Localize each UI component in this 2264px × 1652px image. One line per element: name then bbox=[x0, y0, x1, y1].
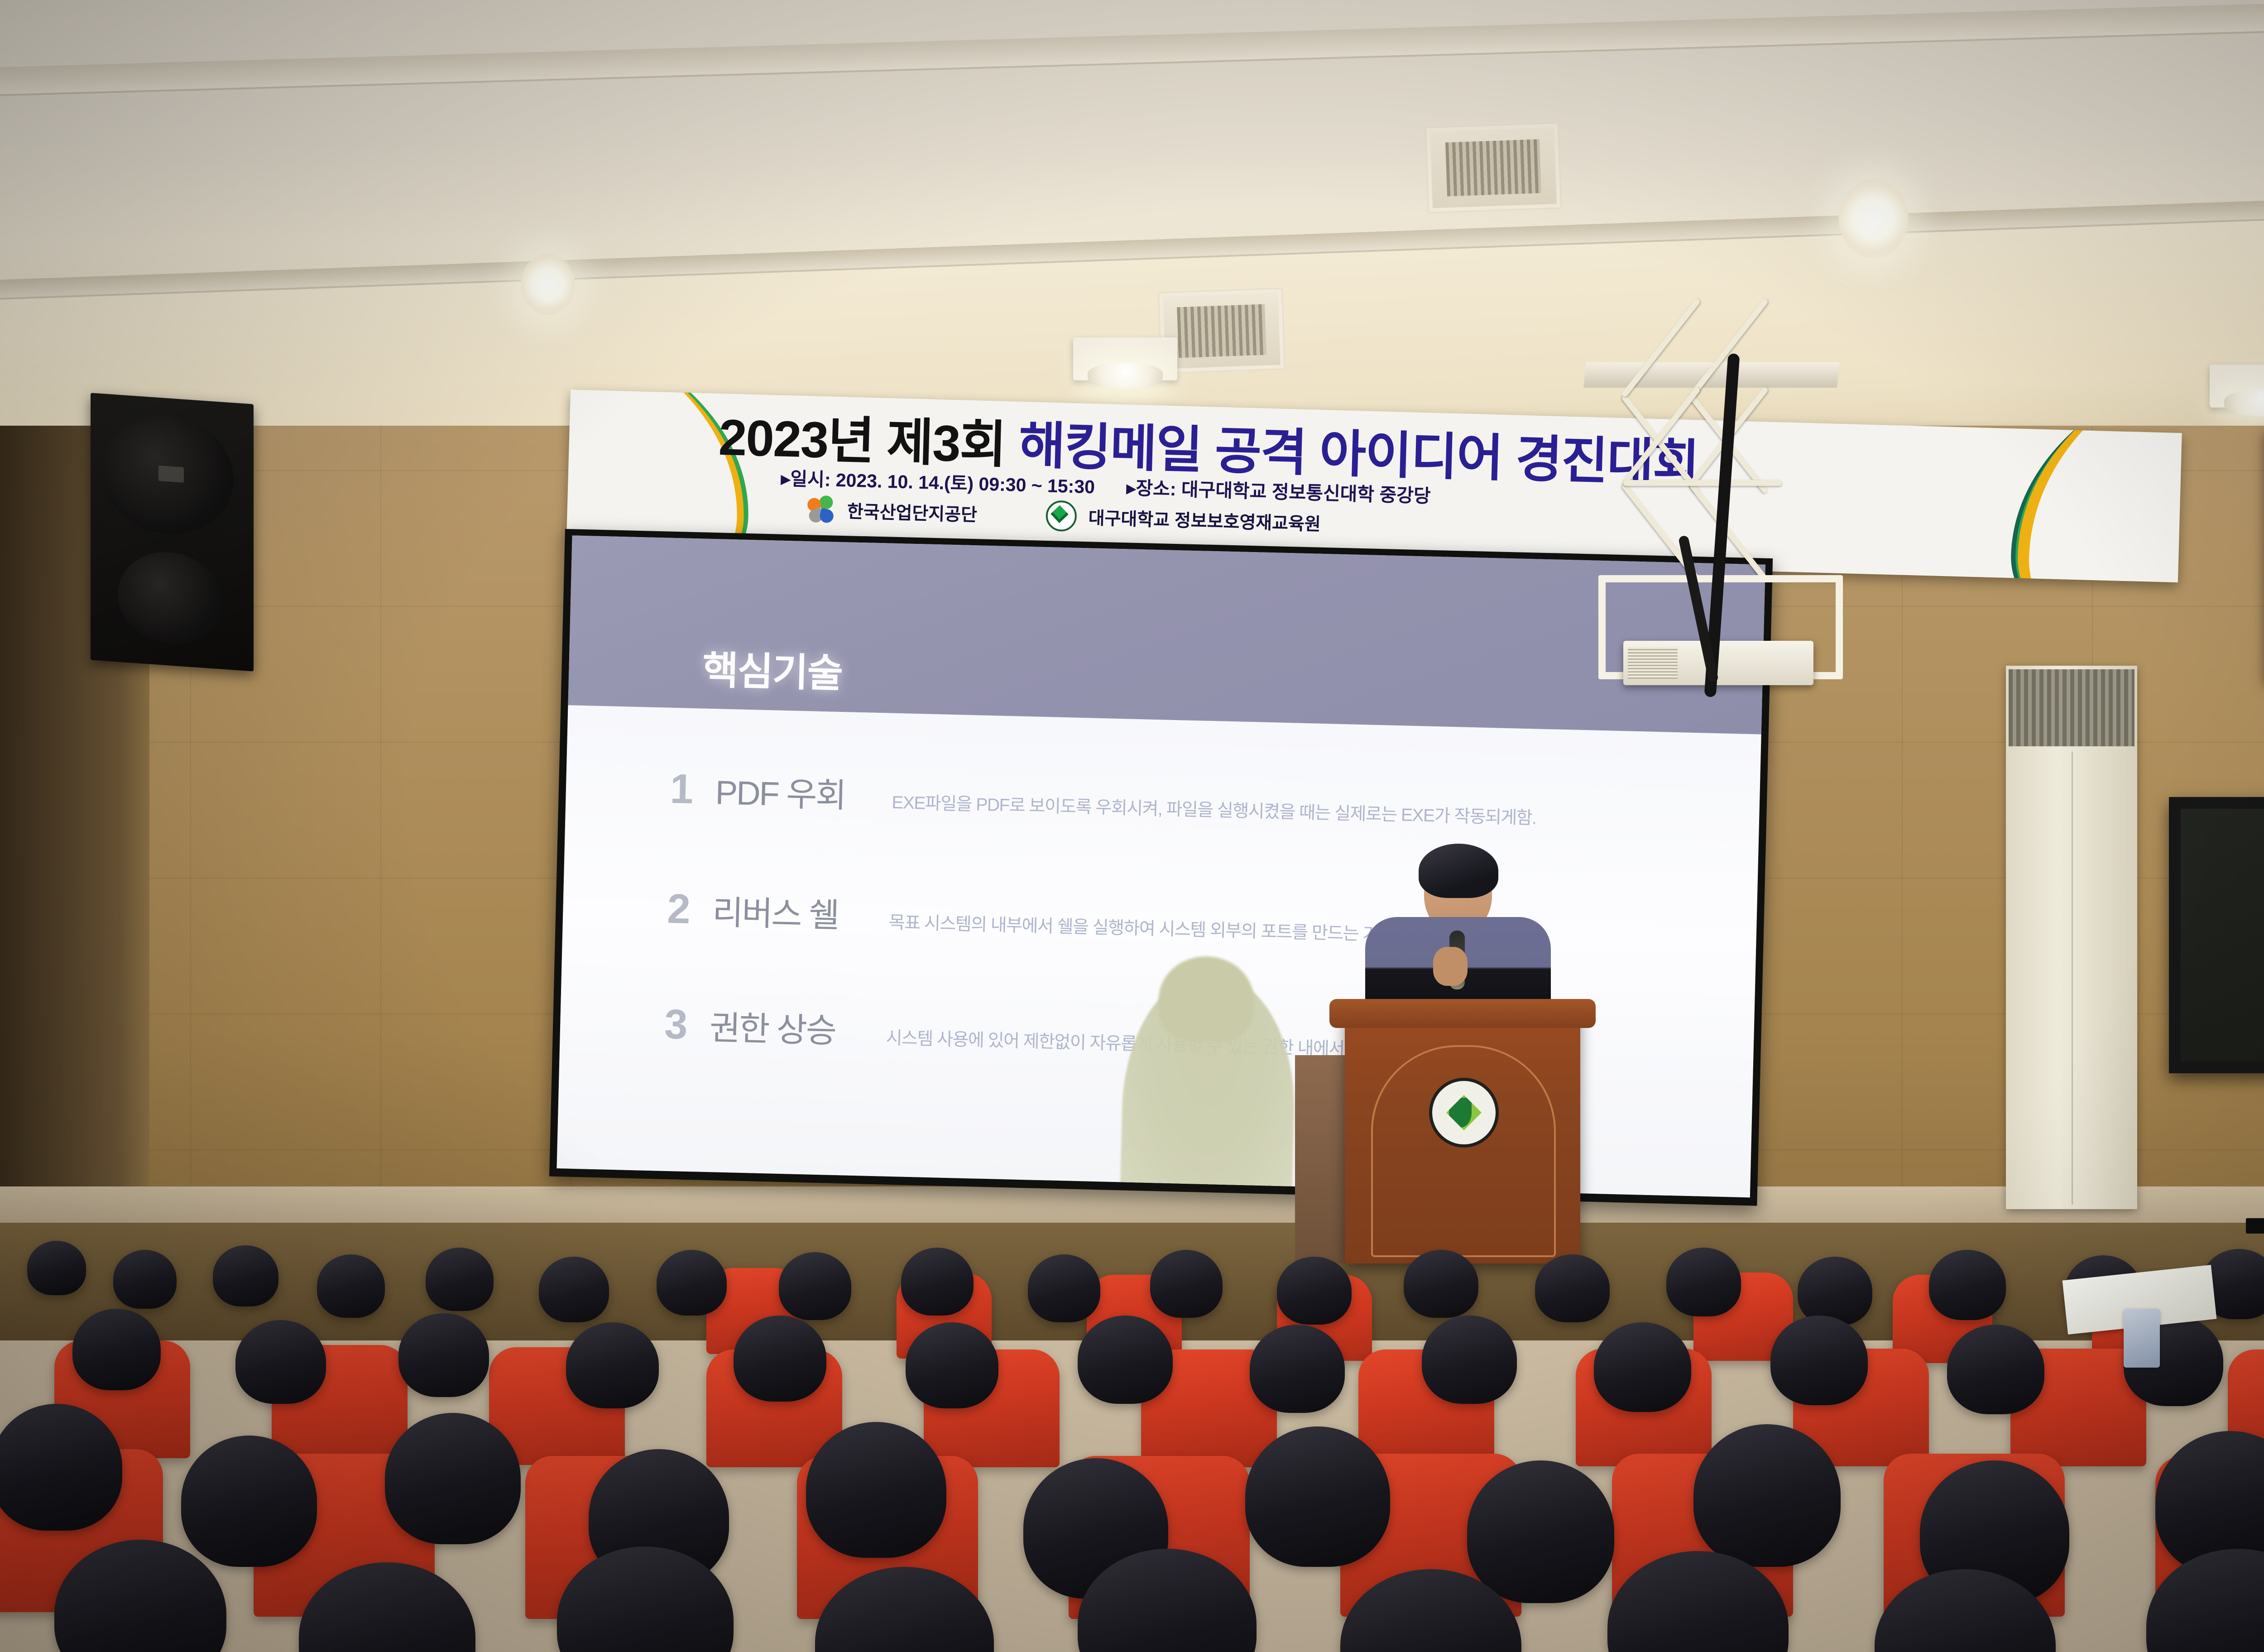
audience-head bbox=[181, 1436, 317, 1567]
audience-head bbox=[1770, 1316, 1868, 1405]
banner-sponsor-1: 한국산업단지공단 bbox=[847, 498, 977, 527]
audience-head bbox=[1422, 1316, 1517, 1404]
slide-item-term: PDF 우회 bbox=[715, 765, 892, 818]
audience-head bbox=[1798, 1257, 1872, 1325]
flat-panel-display bbox=[2169, 797, 2264, 1073]
ceiling-spotlight bbox=[1073, 337, 1177, 380]
banner-date-value: 2023. 10. 14.(토) 09:30 ~ 15:30 bbox=[835, 470, 1095, 497]
slide-item-number: 2 bbox=[667, 885, 713, 934]
audience-head bbox=[734, 1316, 826, 1402]
ceiling-air-vent bbox=[1425, 122, 1562, 213]
slide-item-number: 1 bbox=[670, 765, 716, 814]
standing-air-conditioner bbox=[2006, 666, 2137, 1209]
audience-head bbox=[27, 1241, 86, 1295]
presenter-hair bbox=[1419, 844, 1498, 898]
slide-item-number: 3 bbox=[664, 1001, 710, 1049]
slide-item-term: 리버스 쉘 bbox=[712, 885, 889, 938]
audience-head bbox=[779, 1252, 851, 1320]
audience-head bbox=[1467, 1460, 1614, 1603]
audience-head bbox=[1404, 1250, 1478, 1318]
audience-head bbox=[113, 1250, 177, 1309]
audience-head bbox=[1929, 1250, 2006, 1320]
audience-head bbox=[1250, 1325, 1345, 1413]
audience-head bbox=[398, 1313, 489, 1397]
ac-grill-icon bbox=[2009, 669, 2134, 746]
audience-head bbox=[539, 1257, 609, 1322]
slide-list-item: 1 PDF 우회 EXE파일을 PDF로 보이도록 우회시켜, 파일을 실행시켰… bbox=[670, 764, 1712, 838]
audience-head bbox=[426, 1248, 494, 1311]
ceiling-spotlight bbox=[2210, 365, 2264, 408]
audience-head bbox=[317, 1254, 385, 1318]
seated-audience bbox=[0, 1159, 2264, 1652]
ceiling-scissor-lift-projector bbox=[1580, 362, 1870, 725]
audience-head bbox=[1535, 1254, 1610, 1322]
recessed-ceiling-downlight bbox=[521, 254, 575, 315]
ceiling-cove-1 bbox=[0, 0, 2264, 99]
banner-date-label: ▸일시: bbox=[781, 468, 836, 490]
banner-place-value: 대구대학교 정보통신대학 중강당 bbox=[1181, 479, 1431, 507]
audience-head bbox=[213, 1245, 278, 1306]
banner-title-ordinal: 제3회 bbox=[886, 413, 1020, 474]
daegu-university-emblem bbox=[1429, 1078, 1499, 1148]
audience-head bbox=[566, 1322, 659, 1408]
audience-head bbox=[235, 1320, 326, 1404]
slide-item-term: 권한 상승 bbox=[709, 1001, 887, 1053]
audience-head bbox=[72, 1309, 161, 1390]
audience-head bbox=[385, 1413, 521, 1544]
audience-head bbox=[657, 1250, 727, 1316]
recessed-ceiling-downlight bbox=[1838, 179, 1909, 258]
slide-title: 핵심기술 bbox=[702, 639, 843, 698]
audience-head bbox=[1594, 1322, 1691, 1412]
audience-head bbox=[1666, 1248, 1741, 1316]
audience-head bbox=[1245, 1426, 1390, 1567]
audience-head bbox=[1693, 1424, 1841, 1567]
presenter bbox=[1361, 836, 1555, 1026]
auditorium-photo: 2023년 제3회 해킹메일 공격 아이디어 경진대회 ▸일시: 2023. 1… bbox=[0, 0, 2264, 1652]
audience-head bbox=[1028, 1254, 1100, 1322]
ceiling bbox=[0, 0, 2264, 408]
presenter-shadow-head bbox=[1158, 955, 1255, 1043]
ac-panel-seam bbox=[2072, 752, 2073, 1205]
audience-head bbox=[1947, 1325, 2044, 1414]
presenter-hand bbox=[1433, 947, 1468, 986]
wall-speaker-left bbox=[91, 393, 254, 671]
banner-place-label: ▸장소: bbox=[1126, 477, 1181, 499]
kicox-logo-icon bbox=[807, 495, 836, 524]
audience-head bbox=[0, 1404, 122, 1531]
banner-title-year: 2023년 bbox=[718, 409, 888, 470]
audience-head bbox=[906, 1322, 998, 1408]
slide-item-description: EXE파일을 PDF로 보이도록 우회시켜, 파일을 실행시켰을 때는 실제로는… bbox=[892, 790, 1536, 832]
slide-body: 1 PDF 우회 EXE파일을 PDF로 보이도록 우회시켜, 파일을 실행시켰… bbox=[556, 705, 1761, 1197]
mobile-phone bbox=[2124, 1309, 2160, 1368]
audience-head bbox=[1277, 1257, 1352, 1325]
banner-sponsor-2: 대구대학교 정보보호영재교육원 bbox=[1088, 504, 1321, 536]
audience-head bbox=[806, 1422, 946, 1558]
audience-head bbox=[1078, 1316, 1173, 1404]
audience-head bbox=[1150, 1250, 1223, 1318]
slide-item-description: 목표 시스템의 내부에서 쉘을 실행하여 시스템 외부의 포트를 만드는 기술 bbox=[888, 910, 1394, 949]
podium-top bbox=[1329, 999, 1596, 1028]
daegu-university-logo-icon bbox=[1046, 500, 1077, 532]
audience-head bbox=[901, 1248, 974, 1316]
